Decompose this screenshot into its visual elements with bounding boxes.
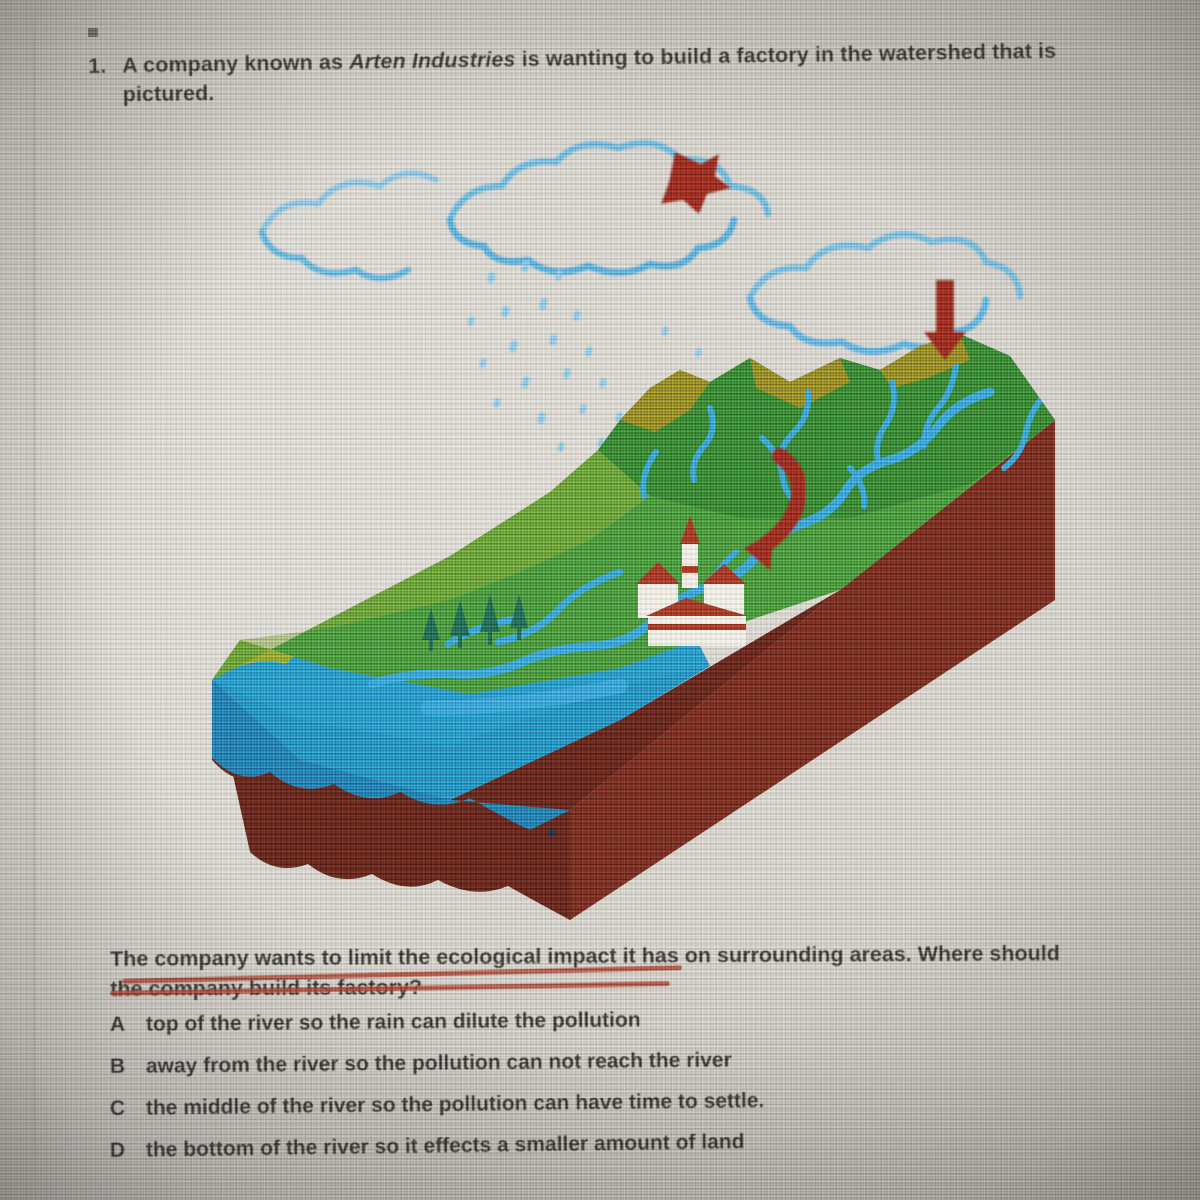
answer-choice-a[interactable]: A top of the river so the rain can dilut… bbox=[110, 1003, 1110, 1051]
paper-speck bbox=[88, 28, 98, 37]
town-band-front bbox=[648, 624, 746, 630]
choice-letter-c: C bbox=[110, 1096, 138, 1122]
question-stem-part1: A company known as bbox=[122, 50, 349, 78]
question-number: 1. bbox=[88, 52, 107, 81]
choice-letter-b: B bbox=[110, 1054, 138, 1080]
choice-letter-d: D bbox=[110, 1138, 138, 1164]
town-wall-front bbox=[648, 616, 746, 646]
town-tower-band bbox=[682, 566, 698, 573]
margin-rule-outer bbox=[27, 0, 28, 1200]
margin-rule bbox=[33, 0, 35, 1200]
watershed-diagram bbox=[150, 120, 1110, 940]
choice-letter-a: A bbox=[110, 1012, 138, 1038]
answer-choices: A top of the river so the rain can dilut… bbox=[110, 1012, 1110, 1177]
cloud-right bbox=[750, 234, 1020, 351]
bay-marker-dot bbox=[548, 829, 556, 837]
company-name: Arten Industries bbox=[349, 47, 516, 74]
worksheet-photo: 1. A company known as Arten Industries i… bbox=[0, 0, 1200, 1200]
